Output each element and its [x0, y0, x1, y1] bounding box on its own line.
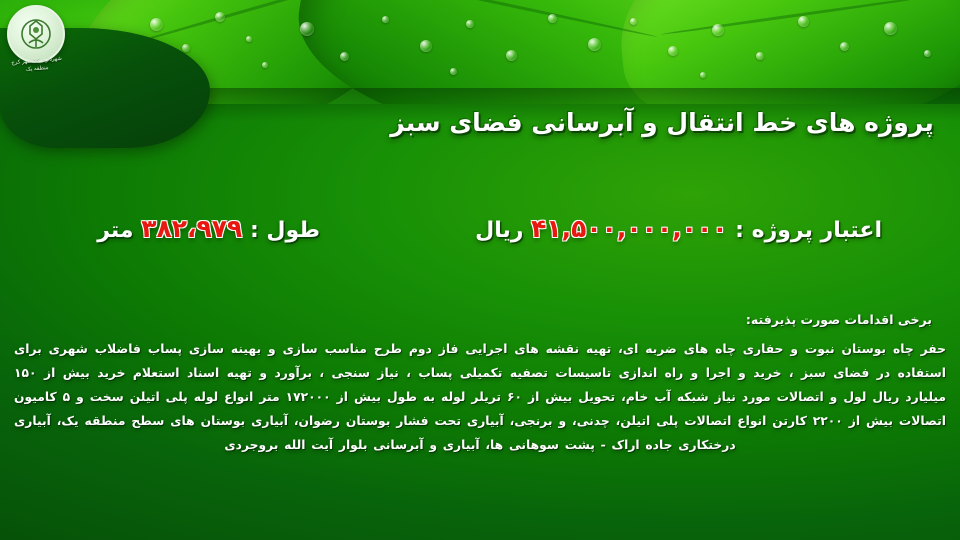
- water-droplet: [668, 46, 678, 56]
- water-droplet: [420, 40, 432, 52]
- municipality-emblem-icon: [7, 5, 65, 63]
- water-droplet: [630, 18, 637, 25]
- body-paragraph: حفر چاه بوستان نبوت و حفاری چاه های ضربه…: [14, 338, 946, 458]
- water-droplet: [712, 24, 724, 36]
- page-title: پروژه های خط انتقال و آبرسانی فضای سبز: [382, 108, 942, 137]
- stat-length: طول : ۳۸۲،۹۷۹ متر: [97, 214, 320, 243]
- stat-budget: اعتبار پروژه : ۴۱,۵۰۰,۰۰۰,۰۰۰ ریال: [475, 214, 882, 243]
- water-droplet: [382, 16, 389, 23]
- water-droplet: [884, 22, 897, 35]
- presentation-slide: شهرداری کلانشهر کرج منطقه یک پروژه های خ…: [0, 0, 960, 540]
- water-droplet: [548, 14, 557, 23]
- water-droplet: [466, 20, 474, 28]
- water-droplet: [300, 22, 314, 36]
- stat-budget-label: اعتبار پروژه :: [735, 218, 882, 243]
- water-droplet: [588, 38, 601, 51]
- stat-length-unit: متر: [97, 218, 133, 243]
- water-droplet: [150, 18, 163, 31]
- statistics-row: طول : ۳۸۲،۹۷۹ متر اعتبار پروژه : ۴۱,۵۰۰,…: [0, 214, 960, 262]
- water-droplet: [246, 36, 252, 42]
- water-droplet: [340, 52, 349, 61]
- water-droplet: [182, 44, 190, 52]
- stat-length-label: طول :: [250, 218, 320, 243]
- water-droplet: [506, 50, 517, 61]
- stat-budget-value: ۴۱,۵۰۰,۰۰۰,۰۰۰: [531, 214, 727, 243]
- body-block: برخی اقدامات صورت پذیرفته: حفر چاه بوستا…: [14, 308, 946, 458]
- stat-budget-unit: ریال: [475, 218, 523, 243]
- water-droplet: [840, 42, 849, 51]
- water-droplet: [700, 72, 706, 78]
- water-droplet: [262, 62, 268, 68]
- water-droplet: [756, 52, 764, 60]
- water-droplet: [798, 16, 809, 27]
- water-droplet: [924, 50, 931, 57]
- water-droplet: [450, 68, 457, 75]
- body-heading: برخی اقدامات صورت پذیرفته:: [14, 308, 946, 332]
- water-droplet: [215, 12, 225, 22]
- stat-length-value: ۳۸۲،۹۷۹: [141, 214, 242, 243]
